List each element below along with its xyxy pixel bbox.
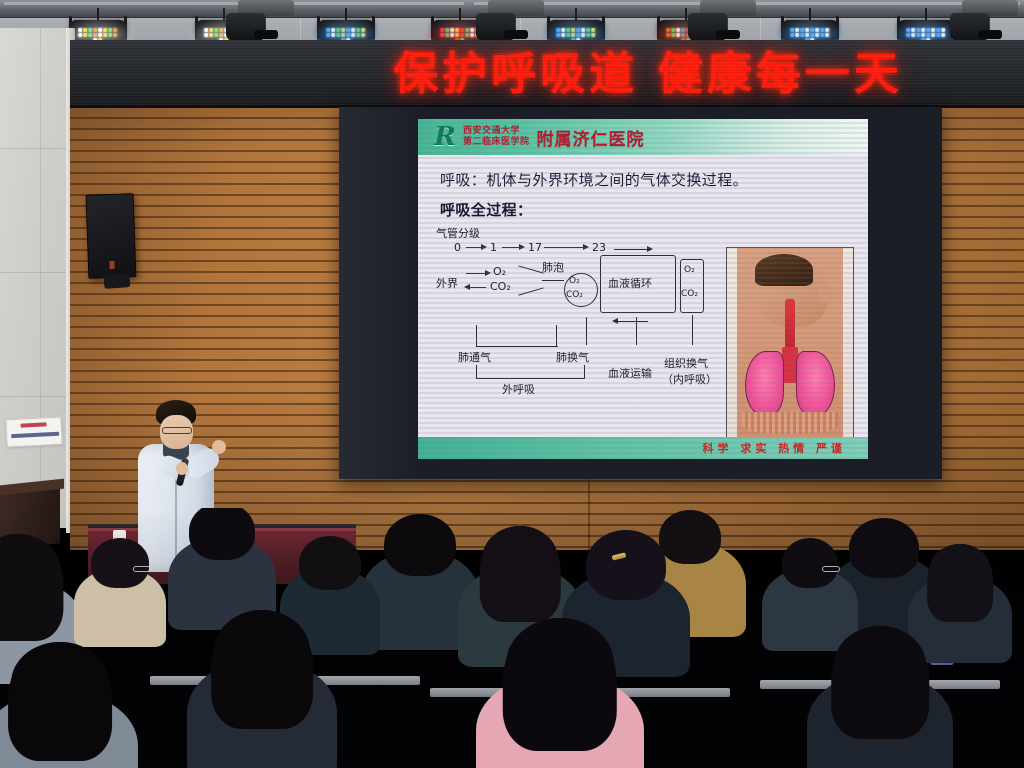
speaker-power-led <box>109 261 114 269</box>
speaker-bracket <box>104 273 131 289</box>
generation-17: 17 <box>528 241 542 254</box>
university-line-1: 西安交通大学 <box>463 126 530 137</box>
blood-circulation-label: 血液循环 <box>608 275 652 291</box>
hospital-logo-icon: R <box>430 123 460 151</box>
airway-grading-label: 气管分级 <box>436 225 480 241</box>
slide-footer: 科学 求实 热情 严谨 <box>418 437 868 459</box>
wall-speaker <box>86 193 137 279</box>
institution-motto: 科学 求实 热情 严谨 <box>703 440 847 456</box>
audience-member <box>807 626 953 768</box>
stage-label-pulmonary-gas-exchange: 肺换气 <box>556 349 589 365</box>
co2-tissue: CO₂ <box>681 289 698 299</box>
stage-label-pulmonary-ventilation: 肺通气 <box>458 349 491 365</box>
audience <box>0 508 1024 768</box>
respiration-flow-diagram: 气管分级 0 1 17 23 外界 O₂ CO₂ <box>436 225 708 415</box>
audience-member <box>187 610 337 768</box>
alveoli-label: 肺泡 <box>542 259 564 275</box>
wall-notice-sign <box>5 417 62 448</box>
stage-label-tissue-gas-exchange: 组织换气 <box>664 355 708 371</box>
audience-member <box>476 618 644 768</box>
screen-dark-margin <box>339 107 417 479</box>
slide-section-title: 呼吸全过程： <box>440 199 532 220</box>
university-line-2: 第二临床医学院 <box>463 137 530 148</box>
generation-1: 1 <box>490 241 497 254</box>
lecture-hall-scene: 保护呼吸道 健康每一天 R 西安交通大学 第二临床医学院 附属济仁医院 呼吸：机… <box>0 0 1024 768</box>
led-banner: 保护呼吸道 健康每一天 <box>70 40 1024 108</box>
presentation-slide: R 西安交通大学 第二临床医学院 附属济仁医院 呼吸：机体与外界环境之间的气体交… <box>418 119 868 459</box>
inner-respiration-label: （内呼吸） <box>662 371 717 387</box>
o2-alveolus: O₂ <box>569 276 580 286</box>
glasses-icon <box>162 427 192 434</box>
slide-body: 呼吸：机体与外界环境之间的气体交换过程。 呼吸全过程： 气管分级 0 1 17 … <box>418 155 868 437</box>
generation-23: 23 <box>592 241 606 254</box>
slide-header: R 西安交通大学 第二临床医学院 附属济仁医院 <box>418 119 868 155</box>
stage-label-blood-transport: 血液运输 <box>608 365 652 381</box>
slide-definition-text: 呼吸：机体与外界环境之间的气体交换过程。 <box>440 169 748 190</box>
o2-external: O₂ <box>493 265 506 278</box>
respiratory-anatomy-illustration <box>726 247 854 447</box>
tiled-side-wall <box>0 28 74 528</box>
external-respiration-label: 外呼吸 <box>502 381 535 397</box>
hospital-name: 附属济仁医院 <box>537 125 645 150</box>
co2-external: CO₂ <box>490 280 511 293</box>
audience-member <box>0 642 138 768</box>
co2-alveolus: CO₂ <box>566 290 583 300</box>
o2-tissue: O₂ <box>684 265 695 275</box>
generation-0: 0 <box>454 241 461 254</box>
banner-text: 保护呼吸道 健康每一天 <box>338 48 958 100</box>
external-env-label: 外界 <box>436 275 458 291</box>
